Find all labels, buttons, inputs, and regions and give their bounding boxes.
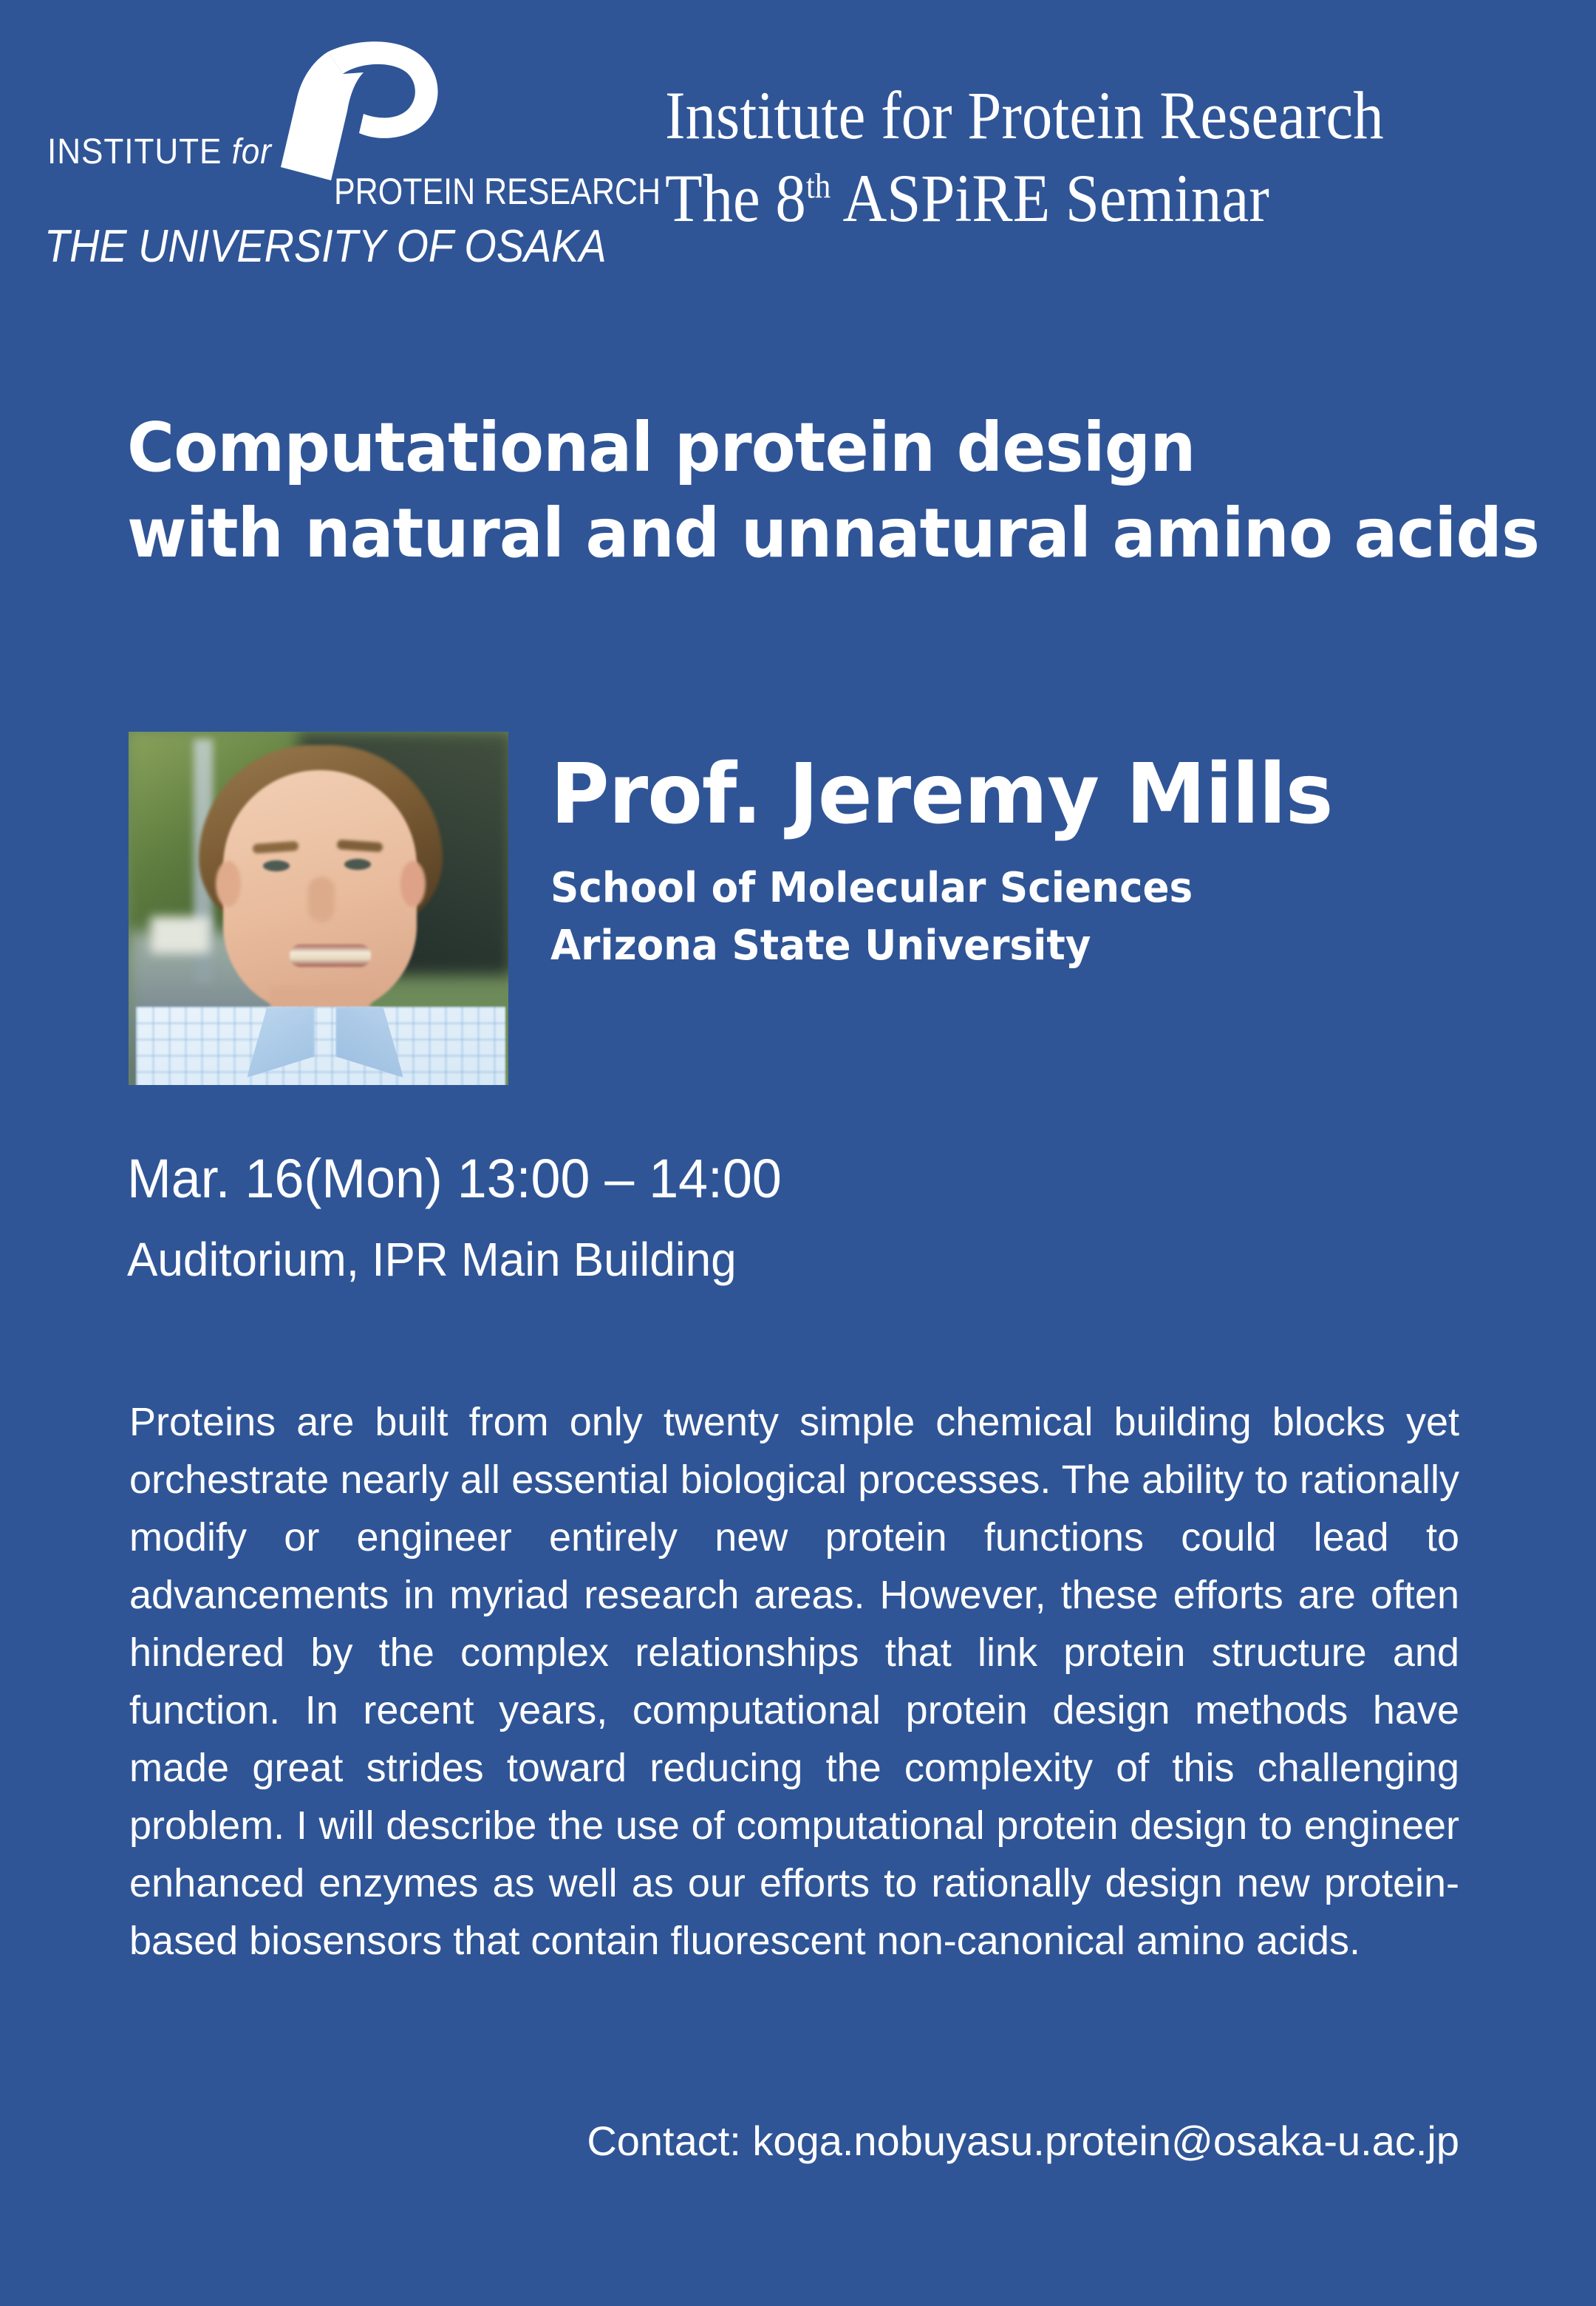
- seminar-title-line-2: with natural and unnatural amino acids: [127, 491, 1461, 576]
- photo-nose: [308, 877, 335, 922]
- header-seminar-number: The 8th ASPiRE Seminar: [665, 157, 1483, 239]
- photo-eye-right: [344, 859, 371, 870]
- photo-ear-left: [216, 861, 241, 907]
- event-datetime: Mar. 16(Mon) 13:00 – 14:00: [127, 1144, 1489, 1214]
- seminar-ordinal-prefix: The 8: [665, 160, 806, 236]
- photo-shirt: [136, 1007, 505, 1085]
- header-institute-name: Institute for Protein Research: [665, 74, 1483, 157]
- seminar-ordinal-suffix: th: [806, 166, 831, 205]
- abstract-text: Proteins are built from only twenty simp…: [129, 1393, 1459, 1970]
- photo-background-highlight: [151, 916, 210, 953]
- seminar-series-name: ASPiRE Seminar: [831, 160, 1269, 236]
- ipr-logo: INSTITUTE for PROTEIN RESEARCH THE UNIVE…: [38, 35, 659, 257]
- event-venue: Auditorium, IPR Main Building: [127, 1228, 1489, 1290]
- poster-header: INSTITUTE for PROTEIN RESEARCH THE UNIVE…: [0, 0, 1596, 281]
- photo-ear-right: [400, 861, 426, 907]
- photo-mouth: [290, 945, 371, 967]
- contact-line: Contact: koga.nobuyasu.protein@osaka-u.a…: [129, 2115, 1459, 2167]
- speaker-affiliation-school: School of Molecular Sciences: [550, 860, 1498, 917]
- speaker-photo: [129, 732, 508, 1085]
- speaker-affiliation-university: Arizona State University: [550, 917, 1498, 975]
- logo-institute-for-text: INSTITUTE for: [47, 132, 272, 172]
- seminar-title-line-1: Computational protein design: [127, 405, 1461, 491]
- event-details: Mar. 16(Mon) 13:00 – 14:00 Auditorium, I…: [127, 1144, 1531, 1290]
- speaker-name: Prof. Jeremy Mills: [550, 750, 1518, 839]
- seminar-title: Computational protein design with natura…: [127, 405, 1531, 576]
- logo-university-text: THE UNIVERSITY OF OSAKA: [44, 220, 607, 273]
- photo-eye-left: [263, 860, 290, 871]
- speaker-info: Prof. Jeremy Mills School of Molecular S…: [550, 750, 1548, 975]
- logo-protein-research-text: PROTEIN RESEARCH: [334, 170, 661, 213]
- header-title-block: Institute for Protein Research The 8th A…: [665, 74, 1574, 239]
- seminar-poster: INSTITUTE for PROTEIN RESEARCH THE UNIVE…: [0, 0, 1596, 2306]
